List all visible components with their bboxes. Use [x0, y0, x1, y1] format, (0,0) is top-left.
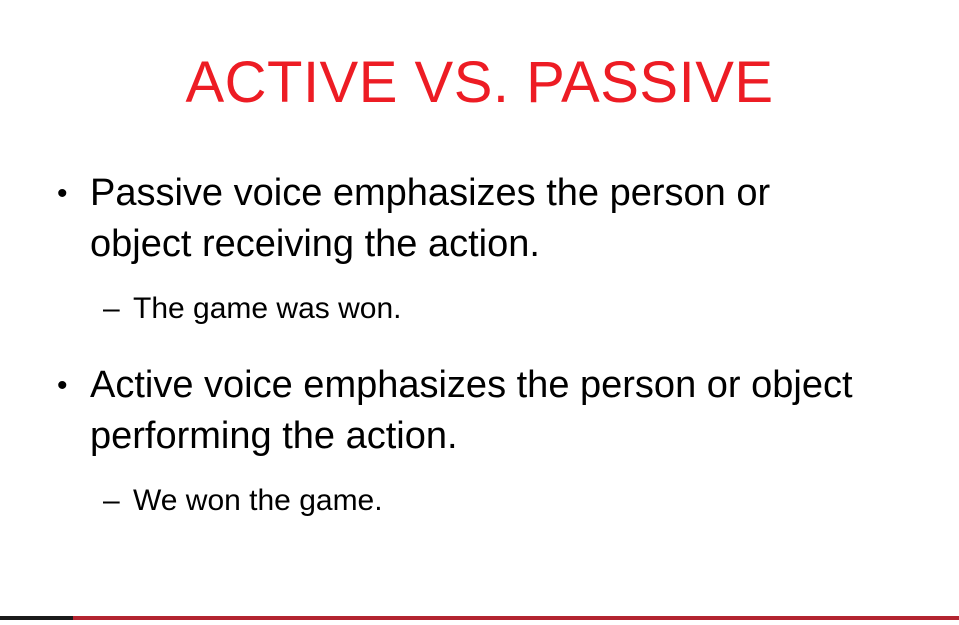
dash-marker-icon: – [103, 480, 133, 522]
bullet-marker-icon: • [57, 360, 90, 411]
page-title: ACTIVE VS. PASSIVE [0, 52, 959, 114]
footer-rule-dark [0, 616, 73, 620]
list-item-text: Passive voice emphasizes the person or o… [90, 168, 860, 270]
slide-canvas: ACTIVE VS. PASSIVE • Passive voice empha… [0, 0, 959, 625]
dash-marker-icon: – [103, 288, 133, 330]
list-item: • Passive voice emphasizes the person or… [0, 168, 900, 270]
bullet-marker-icon: • [57, 168, 90, 219]
list-item: – We won the game. [0, 480, 900, 522]
list-item-text: The game was won. [133, 288, 900, 330]
list-item: – The game was won. [0, 288, 900, 330]
list-item-text: Active voice emphasizes the person or ob… [90, 360, 860, 462]
footer-rule-red [73, 616, 959, 620]
list-item: • Active voice emphasizes the person or … [0, 360, 900, 462]
list-item-text: We won the game. [133, 480, 900, 522]
slide-body: • Passive voice emphasizes the person or… [0, 168, 900, 522]
